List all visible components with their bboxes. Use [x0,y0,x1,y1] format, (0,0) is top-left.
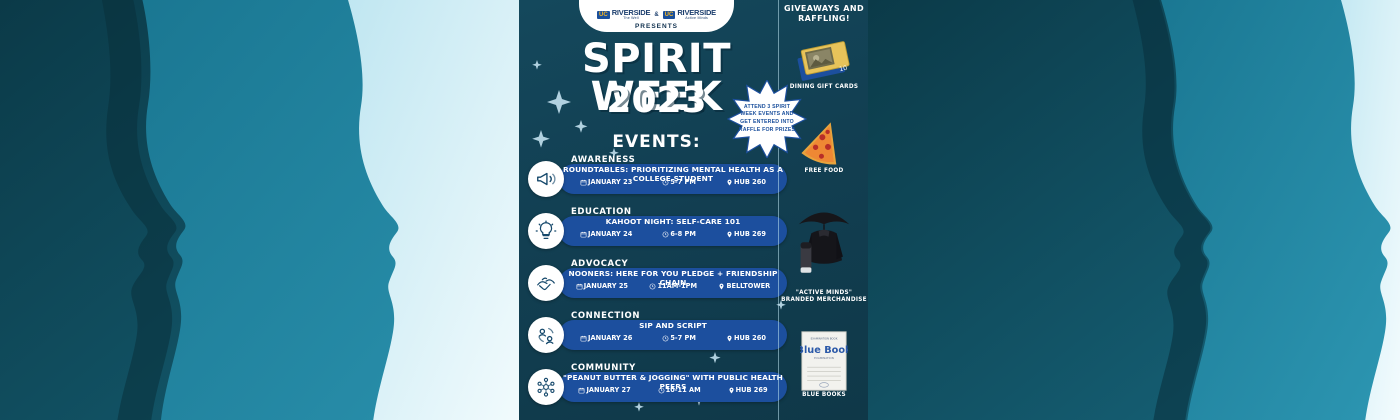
prize-caption: "ACTIVE MINDS" BRANDED MERCHANDISE [780,290,868,305]
calendar-icon [578,387,585,394]
logo-name-well: RIVERSIDE [612,9,651,17]
uc-mark-icon-2: UC [663,11,676,19]
event-date: JANUARY 27 [578,386,630,394]
map-pin-icon [726,335,733,342]
clock-icon [662,335,669,342]
giveaways-heading: GIVEAWAYS AND RAFFLING! [780,4,868,24]
background-left-panel [0,0,519,420]
map-pin-icon [718,283,725,290]
event-meta: JANUARY 24 6-8 PM HUB 269 [565,230,781,238]
prize-dining-gift-cards: 10 DINING GIFT CARDS [780,38,868,91]
clock-icon [658,387,665,394]
svg-text:10: 10 [839,65,848,73]
clock-icon [662,179,669,186]
blue-book-top-line: EXAMINATION BOOK [811,337,838,341]
event-title: SIP AND SCRIPT [559,321,787,330]
event-time: 10-11 AM [658,386,701,394]
event-row-connection: CONNECTION SIP AND SCRIPT JANUARY 26 5-7… [519,311,794,363]
event-time: 6-8 PM [662,230,696,238]
uc-mark-icon: UC [597,11,610,19]
event-location: HUB 269 [728,386,768,394]
giveaways-sidebar: GIVEAWAYS AND RAFFLING! 10 DINING GIFT C… [780,0,868,420]
helping-hands-icon [528,265,564,301]
prize-branded-merch: "ACTIVE MINDS" BRANDED MERCHANDISE [780,198,868,305]
prize-free-food: FREE FOOD [780,118,868,175]
event-date: JANUARY 25 [576,282,628,290]
event-meta: JANUARY 23 5-7 PM HUB 260 [565,178,781,186]
event-time: 5-7 PM [662,178,696,186]
prize-blue-books: EXAMINATION BOOK Blue Book EXAMINATION B… [780,330,868,399]
event-row-advocacy: ADVOCACY NOONERS: HERE FOR YOU PLEDGE + … [519,259,794,311]
event-meta: JANUARY 26 5-7 PM HUB 260 [565,334,781,342]
background-right-panel [868,0,1400,420]
event-row-awareness: AWARENESS ROUNDTABLES: PRIORITIZING MENT… [519,155,794,207]
event-date: JANUARY 24 [580,230,632,238]
face-silhouettes-right [868,0,1400,420]
logo-sub-active-minds: Active Minds [677,17,716,21]
blue-book-sub-line: EXAMINATION [814,356,834,360]
logo-sub-well: The Well [612,17,651,21]
calendar-icon [580,335,587,342]
events-list: AWARENESS ROUNDTABLES: PRIORITIZING MENT… [519,155,794,415]
event-date: JANUARY 23 [580,178,632,186]
jacket-umbrella-bottle-art [780,198,868,290]
clock-icon [649,283,656,290]
clock-icon [662,231,669,238]
event-time: 11AM-1PM [649,282,697,290]
ampersand-label: & [654,12,658,18]
presenter-logos-row: UC RIVERSIDE The Well & UC RIVERSIDE Act… [597,9,716,21]
gift-card-art: 10 [780,38,868,84]
event-time: 5-7 PM [662,334,696,342]
event-meta: JANUARY 25 11AM-1PM BELLTOWER [565,282,781,290]
event-meta: JANUARY 27 10-11 AM HUB 269 [565,386,781,394]
face-silhouettes-left [0,0,519,420]
pizza-slice-art [780,118,868,168]
prize-caption: FREE FOOD [780,168,868,175]
community-group-icon [528,369,564,405]
logo-name-active-minds: RIVERSIDE [677,9,716,17]
event-location: HUB 260 [726,178,766,186]
poster-screenshot: UC RIVERSIDE The Well & UC RIVERSIDE Act… [0,0,1400,420]
lightbulb-icon [528,213,564,249]
calendar-icon [580,179,587,186]
column-divider [778,0,779,420]
event-location: HUB 260 [726,334,766,342]
presenter-logo-lockup: UC RIVERSIDE The Well & UC RIVERSIDE Act… [579,0,734,32]
event-row-education: EDUCATION KAHOOT NIGHT: SELF-CARE 101 JA… [519,207,794,259]
calendar-icon [576,283,583,290]
event-date: JANUARY 26 [580,334,632,342]
map-pin-icon [728,387,735,394]
prize-caption: DINING GIFT CARDS [780,84,868,91]
event-title: KAHOOT NIGHT: SELF-CARE 101 [559,217,787,226]
map-pin-icon [726,231,733,238]
people-connection-icon [528,317,564,353]
calendar-icon [580,231,587,238]
blue-book-brand: Blue Book [800,345,848,356]
event-row-community: COMMUNITY "PEANUT BUTTER & JOGGING" WITH… [519,363,794,415]
prize-caption: BLUE BOOKS [780,392,868,399]
presents-label: PRESENTS [635,23,678,30]
logo-ucr-active-minds: UC RIVERSIDE Active Minds [663,9,716,21]
event-location: HUB 269 [726,230,766,238]
logo-ucr-the-well: UC RIVERSIDE The Well [597,9,650,21]
blue-book-art: EXAMINATION BOOK Blue Book EXAMINATION [780,330,868,392]
event-location: BELLTOWER [718,282,770,290]
map-pin-icon [726,179,733,186]
megaphone-icon [528,161,564,197]
